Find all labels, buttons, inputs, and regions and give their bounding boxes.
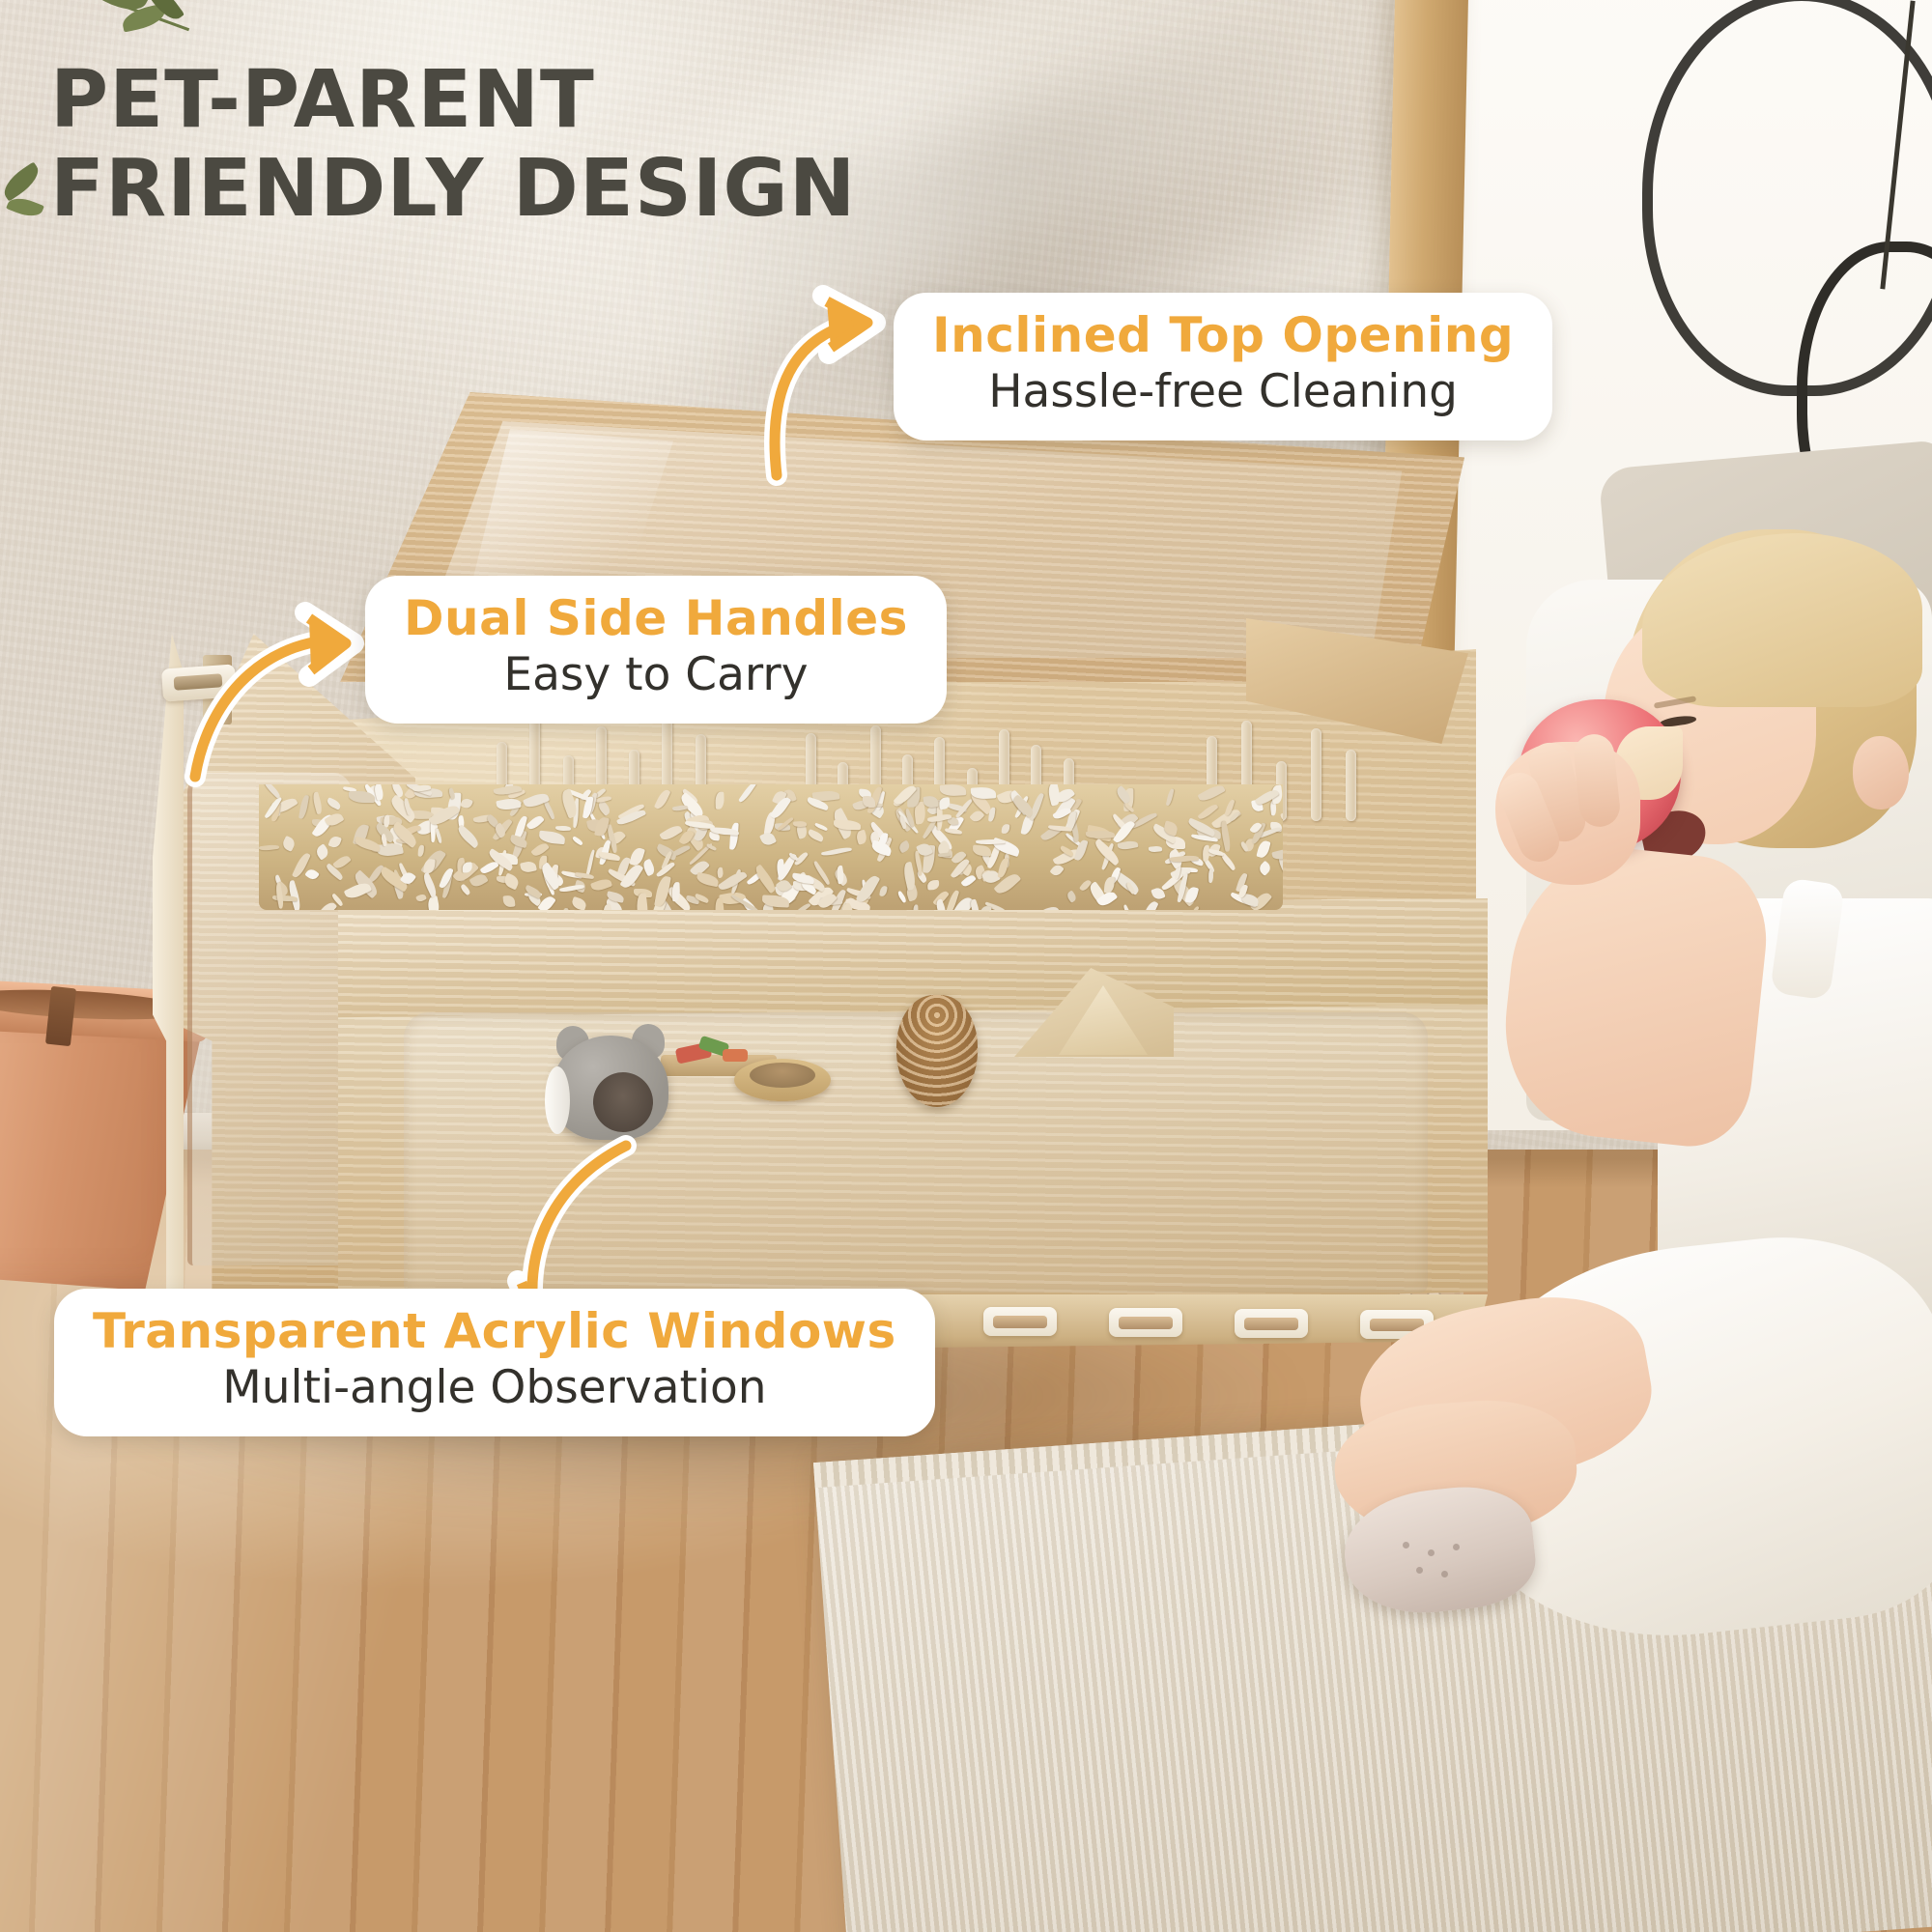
callout-subtitle: Easy to Carry [404,648,908,702]
infographic-overlay: PET-PARENT FRIENDLY DESIGN Inclined Top … [0,0,1932,1932]
callout-subtitle: Multi-angle Observation [93,1361,896,1415]
page-title: PET-PARENT FRIENDLY DESIGN [50,56,1016,234]
callout-card-inclined-top-opening[interactable]: Inclined Top Opening Hassle-free Cleanin… [894,293,1552,440]
headline-line-2: FRIENDLY DESIGN [50,145,1016,234]
curved-arrow-left-down-icon [174,597,386,790]
callout-card-transparent-acrylic-windows[interactable]: Transparent Acrylic Windows Multi-angle … [54,1289,935,1436]
callout-title: Inclined Top Opening [932,308,1514,363]
callout-card-dual-side-handles[interactable]: Dual Side Handles Easy to Carry [365,576,947,724]
callout-title: Transparent Acrylic Windows [93,1304,896,1359]
callout-title: Dual Side Handles [404,591,908,646]
headline-line-1: PET-PARENT [50,54,595,146]
callout-subtitle: Hassle-free Cleaning [932,365,1514,419]
